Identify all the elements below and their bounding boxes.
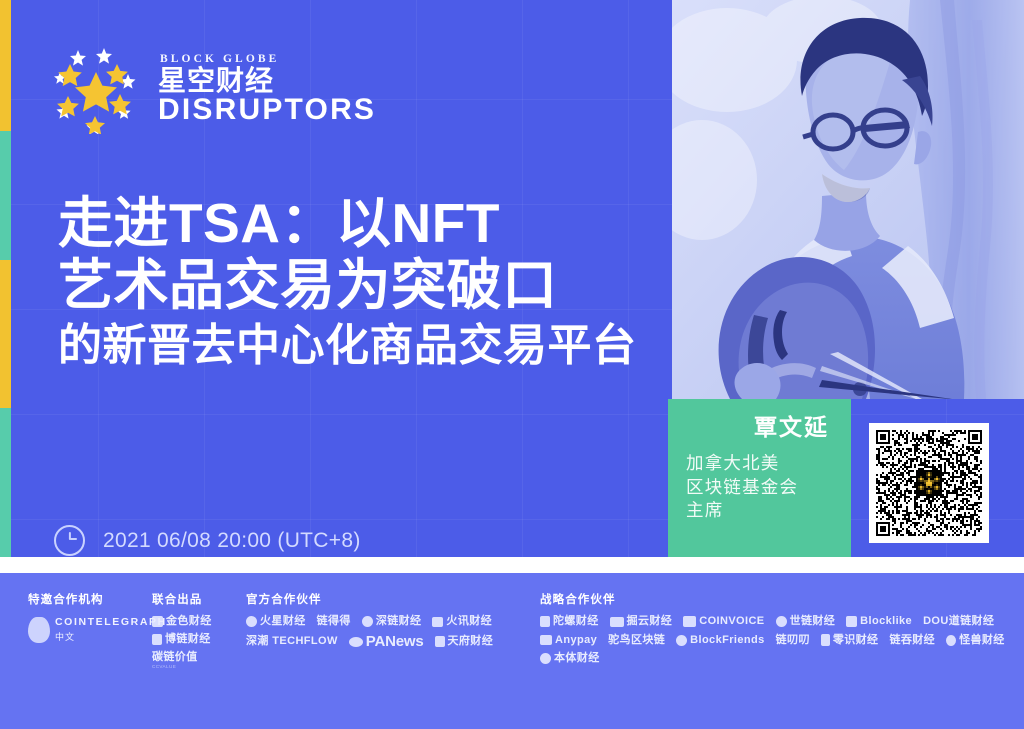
sponsor-logo[interactable]: 深潮 TECHFLOW bbox=[246, 636, 338, 647]
sponsor-logo-label: 驼鸟区块链 bbox=[608, 635, 665, 646]
sponsor-group-heading: 联合出品 bbox=[152, 591, 240, 607]
sponsor-logo[interactable]: PANews bbox=[349, 634, 424, 649]
sponsor-logo-label: 天府财经 bbox=[448, 636, 494, 647]
qr-code-canvas bbox=[876, 430, 982, 536]
sponsor-logo-label: 金色财经 bbox=[166, 616, 212, 627]
headline: 走进TSA：以NFT 艺术品交易为突破口 的新晋去中心化商品交易平台 bbox=[58, 192, 658, 373]
sponsor-group-3: 战略合作伙伴陀螺财经掘云财经COINVOICE世链财经BlocklikeDOU道… bbox=[540, 591, 1018, 671]
sponsor-logo[interactable]: Blocklike bbox=[846, 616, 912, 627]
hero-panel: BLOCK GLOBE 星空财经 DISRUPTORS 走进TSA：以NFT 艺… bbox=[0, 0, 1024, 557]
sponsor-logo-row: 金色财经博链财经碳链价值CCVALUE bbox=[152, 616, 240, 676]
sponsor-logo[interactable]: 世链财经 bbox=[776, 616, 836, 627]
sponsor-logo-sub: 中文 bbox=[55, 630, 167, 643]
sponsor-logo-label: 链叨叨 bbox=[776, 635, 810, 646]
sponsor-logo[interactable]: 链叨叨 bbox=[776, 635, 810, 646]
headline-line-3: 的新晋去中心化商品交易平台 bbox=[58, 320, 658, 373]
stars-cluster-icon bbox=[48, 42, 144, 134]
card-mark-icon bbox=[540, 635, 552, 645]
sponsor-logo-label: 链得得 bbox=[317, 616, 351, 627]
sponsor-logo-row: 火星财经链得得深链财经火讯财经深潮 TECHFLOWPANews天府财经 bbox=[246, 616, 536, 656]
headline-line-1: 走进TSA：以NFT bbox=[58, 192, 658, 254]
leaf-mark-icon bbox=[435, 636, 445, 647]
sponsor-logo-label: 深链财经 bbox=[376, 616, 422, 627]
sponsor-logo-label: BlockFriends bbox=[690, 635, 765, 646]
speaker-title-line-2: 区块链基金会 bbox=[686, 476, 829, 499]
stripe-segment-3 bbox=[0, 408, 11, 557]
speaker-title-line-3: 主席 bbox=[686, 499, 829, 522]
sponsor-logo[interactable]: 零识财经 bbox=[821, 634, 879, 646]
speaker-title: 加拿大北美 区块链基金会 主席 bbox=[686, 452, 829, 522]
clock-icon bbox=[54, 525, 85, 556]
sponsor-logo-sub: CCVALUE bbox=[152, 665, 198, 670]
sponsor-logo[interactable]: 博链财经 bbox=[152, 634, 211, 645]
bracket-mark-icon bbox=[683, 616, 696, 627]
sponsor-logo-label: 火星财经 bbox=[260, 616, 306, 627]
stripe-segment-0 bbox=[0, 0, 11, 131]
sponsor-logo-label: 火讯财经 bbox=[446, 616, 492, 627]
sponsor-logo-label: PANews bbox=[366, 634, 424, 649]
sponsor-logo[interactable]: DOU道链财经 bbox=[923, 616, 994, 627]
left-color-stripe bbox=[0, 0, 11, 557]
circle-mark-icon bbox=[676, 635, 687, 646]
sponsor-logo-label: Anypay bbox=[555, 635, 597, 646]
sponsor-logo[interactable]: 碳链价值CCVALUE bbox=[152, 652, 198, 669]
sponsor-logo[interactable]: 怪兽财经 bbox=[946, 635, 1005, 646]
sponsor-logo[interactable]: 驼鸟区块链 bbox=[608, 635, 665, 646]
circle-mark-icon bbox=[362, 616, 373, 627]
speaker-name: 覃文延 bbox=[686, 415, 829, 440]
speaker-card: 覃文延 加拿大北美 区块链基金会 主席 bbox=[668, 399, 851, 557]
sponsor-logo-label: 掘云财经 bbox=[627, 616, 673, 627]
event-datetime-text: 2021 06/08 20:00 (UTC+8) bbox=[103, 529, 361, 553]
sponsor-logo[interactable]: 陀螺财经 bbox=[540, 616, 599, 627]
sponsor-logo[interactable]: 火星财经 bbox=[246, 616, 306, 627]
sponsor-logo-label: 怪兽财经 bbox=[959, 635, 1005, 646]
sponsor-logo-row: COINTELEGRAPH中文 bbox=[28, 616, 148, 649]
sponsor-logo-label: DOU道链财经 bbox=[923, 616, 994, 627]
co-mark-icon bbox=[349, 637, 363, 647]
stripe-segment-1 bbox=[0, 131, 11, 260]
sponsor-logo[interactable]: 链得得 bbox=[317, 616, 351, 627]
speaker-title-line-1: 加拿大北美 bbox=[686, 452, 829, 475]
sponsor-logo[interactable]: COINVOICE bbox=[683, 616, 764, 627]
sponsor-logo-label: 零识财经 bbox=[833, 635, 879, 646]
headline-line-2: 艺术品交易为突破口 bbox=[58, 254, 658, 316]
circle-check-mark-icon bbox=[246, 616, 257, 627]
brand-name-en: DISRUPTORS bbox=[158, 95, 376, 126]
sponsor-logo[interactable]: 掘云财经 bbox=[610, 616, 673, 627]
poster-canvas: BLOCK GLOBE 星空财经 DISRUPTORS 走进TSA：以NFT 艺… bbox=[0, 0, 1024, 729]
qr-code[interactable] bbox=[869, 423, 989, 543]
infinity-mark-icon bbox=[610, 617, 624, 627]
sponsor-logo-label: 世链财经 bbox=[790, 616, 836, 627]
sponsor-logo-label: 碳链价值CCVALUE bbox=[152, 652, 198, 669]
sponsor-logo-label: 链吞财经 bbox=[889, 635, 935, 646]
sponsor-group-1: 联合出品金色财经博链财经碳链价值CCVALUE bbox=[152, 591, 240, 676]
sponsor-logo[interactable]: COINTELEGRAPH中文 bbox=[28, 616, 167, 643]
circle-b-mark-icon bbox=[540, 653, 551, 664]
square-mark-icon bbox=[152, 616, 163, 627]
brand-kicker: BLOCK GLOBE bbox=[160, 53, 376, 65]
sponsor-logo[interactable]: 深链财经 bbox=[362, 616, 422, 627]
sponsor-logo[interactable]: 本体财经 bbox=[540, 653, 600, 664]
speaker-portrait bbox=[672, 0, 1024, 399]
sponsor-group-heading: 特邀合作机构 bbox=[28, 591, 148, 607]
block-mark-icon bbox=[152, 634, 162, 645]
brand-name-cn: 星空财经 bbox=[158, 66, 376, 96]
sponsor-logo[interactable]: 链吞财经 bbox=[889, 635, 935, 646]
r-mark-icon bbox=[821, 634, 830, 646]
sponsor-logo[interactable]: 火讯财经 bbox=[432, 616, 492, 627]
globe-mark-icon bbox=[776, 616, 787, 627]
z-mark-icon bbox=[540, 616, 550, 627]
sponsor-group-2: 官方合作伙伴火星财经链得得深链财经火讯财经深潮 TECHFLOWPANews天府… bbox=[246, 591, 536, 656]
sponsor-logo[interactable]: BlockFriends bbox=[676, 635, 765, 646]
stripe-segment-2 bbox=[0, 260, 11, 408]
cointelegraph-mark-icon bbox=[28, 617, 50, 643]
sponsor-logo[interactable]: 金色财经 bbox=[152, 616, 212, 627]
sponsor-group-heading: 官方合作伙伴 bbox=[246, 591, 536, 607]
sponsor-logo-label: COINVOICE bbox=[699, 616, 764, 627]
sponsor-logo[interactable]: 天府财经 bbox=[435, 636, 494, 647]
brand-logo: BLOCK GLOBE 星空财经 DISRUPTORS bbox=[48, 42, 376, 134]
sponsor-logo-label: Blocklike bbox=[860, 616, 912, 627]
sponsor-logo-label: 陀螺财经 bbox=[553, 616, 599, 627]
event-datetime: 2021 06/08 20:00 (UTC+8) bbox=[54, 525, 361, 556]
bowtie-mark-icon bbox=[432, 617, 443, 627]
monster-mark-icon bbox=[946, 635, 956, 646]
sponsor-logo-label: 本体财经 bbox=[554, 653, 600, 664]
sponsor-logo-row: 陀螺财经掘云财经COINVOICE世链财经BlocklikeDOU道链财经Any… bbox=[540, 616, 1018, 671]
rounded-mark-icon bbox=[846, 616, 857, 627]
sponsor-footer: 特邀合作机构COINTELEGRAPH中文 联合出品金色财经博链财经碳链价值CC… bbox=[0, 573, 1024, 729]
sponsor-logo[interactable]: Anypay bbox=[540, 635, 597, 646]
sponsor-group-0: 特邀合作机构COINTELEGRAPH中文 bbox=[28, 591, 148, 649]
sponsor-logo-label: COINTELEGRAPH bbox=[55, 616, 167, 628]
sponsor-logo-label: 博链财经 bbox=[165, 634, 211, 645]
sponsor-group-heading: 战略合作伙伴 bbox=[540, 591, 1018, 607]
panel-divider bbox=[0, 557, 1024, 573]
sponsor-logo-label: 深潮 TECHFLOW bbox=[246, 636, 338, 647]
